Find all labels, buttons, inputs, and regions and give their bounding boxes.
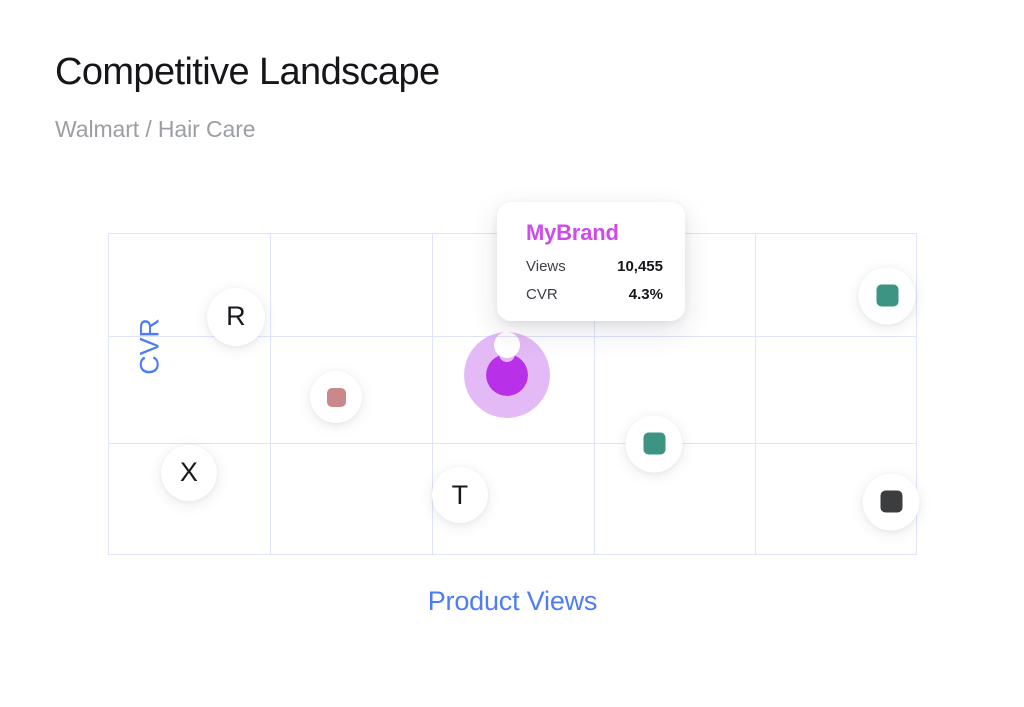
competitor-marker-r[interactable]: R <box>207 288 265 346</box>
competitor-marker-t[interactable]: T <box>432 467 488 523</box>
y-axis-label: CVR <box>135 287 166 407</box>
competitor-swatch-icon <box>880 491 902 513</box>
competitor-swatch-icon <box>327 388 346 407</box>
grid-line-vertical <box>755 233 756 555</box>
mybrand-core-dot <box>486 354 528 396</box>
competitor-marker-charcoal[interactable] <box>863 473 920 530</box>
tooltip-brand-title: MyBrand <box>526 222 663 244</box>
mybrand-tooltip-card: MyBrand Views 10,455 CVR 4.3% <box>497 202 685 321</box>
tooltip-metric-label: Views <box>526 258 566 275</box>
breadcrumb-subtitle: Walmart / Hair Care <box>55 116 255 143</box>
tooltip-metric-value: 4.3% <box>629 286 663 303</box>
tooltip-row-views: Views 10,455 <box>526 258 663 275</box>
competitor-marker-rose[interactable] <box>310 371 362 423</box>
grid-line-vertical <box>270 233 271 555</box>
tooltip-metric-label: CVR <box>526 286 558 303</box>
mybrand-marker[interactable] <box>464 332 550 418</box>
competitor-marker-x[interactable]: X <box>161 445 217 501</box>
competitor-marker-label: R <box>226 303 246 330</box>
competitor-marker-label: T <box>452 482 469 509</box>
page-title: Competitive Landscape <box>55 52 440 94</box>
grid-line-vertical <box>432 233 433 555</box>
grid-line-vertical <box>108 233 109 555</box>
competitor-marker-teal-top[interactable] <box>859 267 916 324</box>
grid-line-horizontal <box>108 443 917 444</box>
competitor-marker-teal-mid[interactable] <box>626 415 683 472</box>
competitor-swatch-icon <box>643 433 665 455</box>
tooltip-metric-value: 10,455 <box>617 258 663 275</box>
competitor-swatch-icon <box>876 285 898 307</box>
x-axis-label: Product Views <box>108 586 917 617</box>
competitor-marker-label: X <box>180 459 198 486</box>
tooltip-row-cvr: CVR 4.3% <box>526 286 663 303</box>
grid-line-horizontal <box>108 554 917 555</box>
